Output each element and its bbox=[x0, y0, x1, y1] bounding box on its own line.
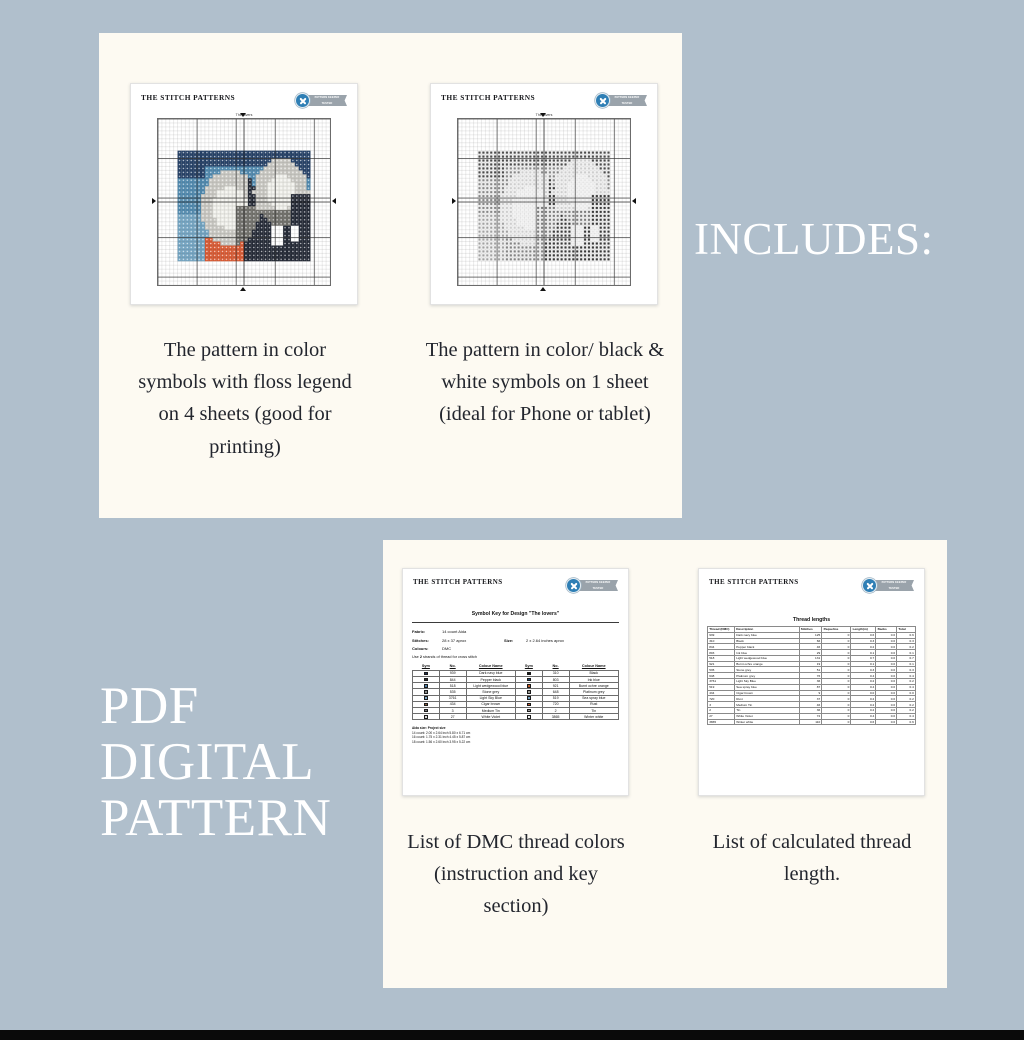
badge-ribbon: PATTERN KEEPER TESTED bbox=[607, 95, 647, 106]
badge-ribbon: PATTERN KEEPER TESTED bbox=[578, 580, 618, 591]
pattern-keeper-tested-badge: PATTERN KEEPER TESTED bbox=[295, 93, 347, 108]
document-color-chart[interactable]: THE STITCH PATTERNS PATTERN KEEPER TESTE… bbox=[130, 83, 358, 305]
swatch-icon bbox=[527, 684, 531, 688]
strands-note-pre: Use bbox=[412, 655, 420, 659]
badge-line-2: TESTED bbox=[874, 586, 914, 592]
stitch-grid-canvas bbox=[458, 119, 630, 285]
swatch-icon bbox=[424, 715, 428, 719]
document-header: THE STITCH PATTERNS PATTERN KEEPER TESTE… bbox=[699, 569, 924, 593]
tick-left bbox=[152, 198, 156, 204]
color-symbol-swatch bbox=[413, 714, 440, 720]
project-size-footer: Aida size: Project size 14 count: 2.00 x… bbox=[412, 726, 619, 744]
swatch-icon bbox=[527, 709, 531, 713]
pattern-keeper-tested-badge: PATTERN KEEPER TESTED bbox=[862, 578, 914, 593]
brand-title: THE STITCH PATTERNS bbox=[441, 93, 535, 102]
swatch-icon bbox=[424, 672, 428, 676]
table-cell: 0.0 bbox=[876, 719, 897, 725]
spec-row: Fabric:14 count Aida bbox=[412, 629, 619, 634]
pattern-keeper-tested-badge: PATTERN KEEPER TESTED bbox=[566, 578, 618, 593]
spec-value-2: 2 x 2.64 inches aprox bbox=[526, 638, 564, 643]
table-cell: Winter white bbox=[735, 719, 799, 725]
stitch-grid bbox=[157, 118, 331, 286]
pdf-line-3: PATTERN bbox=[100, 790, 331, 846]
swatch-icon bbox=[527, 672, 531, 676]
swatch-icon bbox=[424, 703, 428, 707]
divider bbox=[412, 622, 619, 623]
caption-thread-length: List of calculated thread length. bbox=[697, 826, 927, 890]
column-header: Sym bbox=[413, 663, 440, 670]
column-header: No. bbox=[439, 663, 466, 670]
swatch-icon bbox=[424, 678, 428, 682]
badge-line-2: TESTED bbox=[307, 101, 347, 107]
strands-note-post: strands of thread for cross stitch bbox=[422, 655, 477, 659]
badge-x-icon bbox=[566, 578, 581, 593]
spec-label-2: Size: bbox=[504, 638, 526, 643]
spec-label: Stitches: bbox=[412, 638, 442, 643]
swatch-icon bbox=[424, 709, 428, 713]
pdf-line-2: DIGITAL bbox=[100, 734, 331, 790]
table-cell: 27 bbox=[439, 714, 466, 720]
table-row: 27White Violet3865Winter white bbox=[413, 714, 619, 720]
spec-label-2 bbox=[504, 629, 526, 634]
spec-label: Fabric: bbox=[412, 629, 442, 634]
project-size-title: Aida size: Project size bbox=[412, 726, 445, 730]
strands-note: Use 2 strands of thread for cross stitch bbox=[412, 655, 619, 659]
tick-top bbox=[540, 113, 546, 117]
spec-list: Fabric:14 count AidaStitches:28 x 37 apr… bbox=[412, 629, 619, 651]
badge-line-2: TESTED bbox=[578, 586, 618, 592]
document-header: THE STITCH PATTERNS PATTERN KEEPER TESTE… bbox=[131, 84, 357, 108]
project-size-line: 18 count: 1.56 x 2.60 inch 3.95 x 5.22 c… bbox=[412, 740, 619, 745]
brand-title: THE STITCH PATTERNS bbox=[709, 578, 799, 586]
thread-lengths-table: Thread (DMC)DescriptionStitchesPequeñosL… bbox=[707, 626, 916, 725]
swatch-icon bbox=[424, 684, 428, 688]
table-cell: Winter white bbox=[569, 714, 619, 720]
tick-top bbox=[240, 113, 246, 117]
poster-canvas: INCLUDES: PDF DIGITAL PATTERN THE STITCH… bbox=[0, 0, 1024, 1040]
spec-row: Colours:DMC bbox=[412, 646, 619, 651]
stitch-grid bbox=[457, 118, 631, 286]
swatch-icon bbox=[527, 715, 531, 719]
caption-bw-symbols: The pattern in color/ black & white symb… bbox=[425, 334, 665, 431]
symbol-key-table: SymNo.Colour NameSymNo.Colour Name 939Da… bbox=[412, 663, 619, 720]
badge-line-2: TESTED bbox=[607, 101, 647, 107]
tick-bottom bbox=[240, 287, 246, 291]
tick-right bbox=[332, 198, 336, 204]
pattern-keeper-tested-badge: PATTERN KEEPER TESTED bbox=[595, 93, 647, 108]
tick-left bbox=[452, 198, 456, 204]
badge-x-icon bbox=[295, 93, 310, 108]
table-cell: White Violet bbox=[466, 714, 515, 720]
brand-title: THE STITCH PATTERNS bbox=[413, 578, 503, 586]
table-cell: 0.6 bbox=[851, 719, 876, 725]
chart-area bbox=[457, 118, 631, 286]
badge-ribbon: PATTERN KEEPER TESTED bbox=[874, 580, 914, 591]
thread-lengths-rows: 939Dark navy blue12500.60.00.6310Black66… bbox=[708, 632, 916, 725]
spec-row: Stitches:28 x 37 aproxSize:2 x 2.64 inch… bbox=[412, 638, 619, 643]
document-bw-chart[interactable]: THE STITCH PATTERNS PATTERN KEEPER TESTE… bbox=[430, 83, 658, 305]
caption-color-symbols: The pattern in color symbols with floss … bbox=[131, 334, 359, 463]
color-symbol-swatch bbox=[515, 714, 542, 720]
symbol-key-rows: 939Dark navy blue310Black844Pepper black… bbox=[413, 670, 619, 720]
pdf-digital-pattern-heading: PDF DIGITAL PATTERN bbox=[100, 678, 331, 847]
pdf-line-1: PDF bbox=[100, 678, 331, 734]
document-header: THE STITCH PATTERNS PATTERN KEEPER TESTE… bbox=[431, 84, 657, 108]
brand-title: THE STITCH PATTERNS bbox=[141, 93, 235, 102]
table-row: 3865Winter white11000.60.00.6 bbox=[708, 719, 916, 725]
table-cell: 110 bbox=[799, 719, 822, 725]
thread-lengths-title: Thread lengths bbox=[707, 617, 916, 623]
bottom-edge-bar bbox=[0, 1030, 1024, 1040]
column-header: Colour Name bbox=[466, 663, 515, 670]
table-cell: 3865 bbox=[542, 714, 569, 720]
project-size-lines: 14 count: 2.00 x 2.64 inch 5.80 x 6.71 c… bbox=[412, 731, 619, 745]
table-cell: 0.6 bbox=[897, 719, 916, 725]
badge-x-icon bbox=[595, 93, 610, 108]
column-header: Sym bbox=[515, 663, 542, 670]
column-header: No. bbox=[542, 663, 569, 670]
symbol-key-body: Symbol Key for Design "The lovers" Fabri… bbox=[403, 593, 628, 744]
table-cell: 3865 bbox=[708, 719, 735, 725]
spec-label-2 bbox=[504, 646, 526, 651]
tick-bottom bbox=[540, 287, 546, 291]
swatch-icon bbox=[527, 696, 531, 700]
includes-heading: INCLUDES: bbox=[694, 216, 934, 264]
caption-dmc-list: List of DMC thread colors (instruction a… bbox=[402, 826, 630, 923]
swatch-icon bbox=[424, 690, 428, 694]
spec-value: 28 x 37 aprox bbox=[442, 638, 504, 643]
badge-ribbon: PATTERN KEEPER TESTED bbox=[307, 95, 347, 106]
symbol-key-header-row: SymNo.Colour NameSymNo.Colour Name bbox=[413, 663, 619, 670]
chart-area bbox=[157, 118, 331, 286]
spec-label: Colours: bbox=[412, 646, 442, 651]
spec-value: DMC bbox=[442, 646, 504, 651]
table-cell: 0 bbox=[822, 719, 851, 725]
swatch-icon bbox=[527, 678, 531, 682]
spec-value: 14 count Aida bbox=[442, 629, 504, 634]
tick-right bbox=[632, 198, 636, 204]
document-symbol-key[interactable]: THE STITCH PATTERNS PATTERN KEEPER TESTE… bbox=[402, 568, 629, 796]
column-header: Colour Name bbox=[569, 663, 619, 670]
document-thread-lengths[interactable]: THE STITCH PATTERNS PATTERN KEEPER TESTE… bbox=[698, 568, 925, 796]
stitch-grid-canvas bbox=[158, 119, 330, 285]
swatch-icon bbox=[424, 696, 428, 700]
swatch-icon bbox=[527, 690, 531, 694]
document-header: THE STITCH PATTERNS PATTERN KEEPER TESTE… bbox=[403, 569, 628, 593]
symbol-key-heading: Symbol Key for Design "The lovers" bbox=[412, 611, 619, 617]
swatch-icon bbox=[527, 703, 531, 707]
thread-lengths-body: Thread lengths Thread (DMC)DescriptionSt… bbox=[699, 593, 924, 725]
badge-x-icon bbox=[862, 578, 877, 593]
